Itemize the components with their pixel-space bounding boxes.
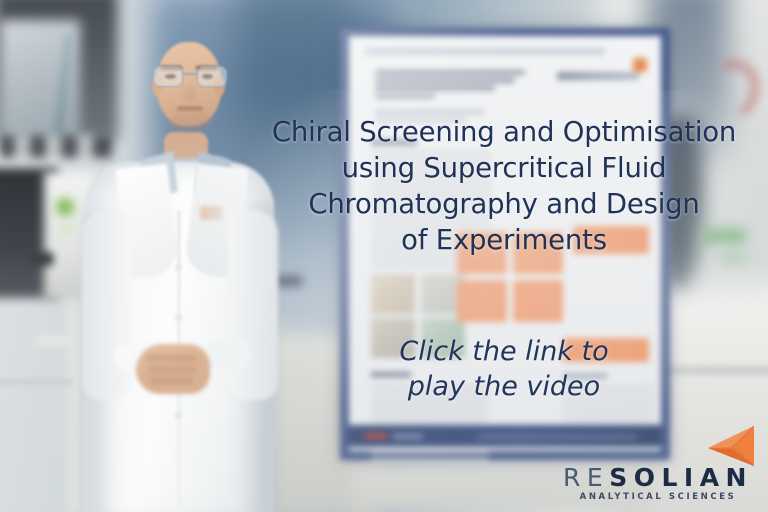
- wordmark-light-part: RE: [563, 463, 609, 492]
- slide-canvas: Chiral Screening and Optimisation using …: [0, 0, 768, 512]
- headline-line-1: Chiral Screening and Optimisation: [248, 114, 760, 150]
- headline-line-4: of Experiments: [248, 222, 760, 258]
- text-overlay: Chiral Screening and Optimisation using …: [0, 0, 768, 512]
- wordmark-bold-part: SOLIAN: [609, 463, 753, 492]
- headline-line-3: Chromatography and Design: [248, 186, 760, 222]
- resolian-logo: RESOLIAN ANALYTICAL SCIENCES: [556, 424, 760, 504]
- orange-triangle-mark-icon: [702, 424, 756, 468]
- resolian-wordmark: RESOLIAN: [556, 464, 760, 492]
- resolian-tagline: ANALYTICAL SCIENCES: [556, 492, 760, 502]
- subhead-line-1: Click the link to: [248, 334, 760, 369]
- subhead-line-2: play the video: [248, 369, 760, 404]
- call-to-action-text[interactable]: Click the link to play the video: [248, 334, 760, 404]
- page-title: Chiral Screening and Optimisation using …: [248, 114, 760, 258]
- headline-line-2: using Supercritical Fluid: [248, 150, 760, 186]
